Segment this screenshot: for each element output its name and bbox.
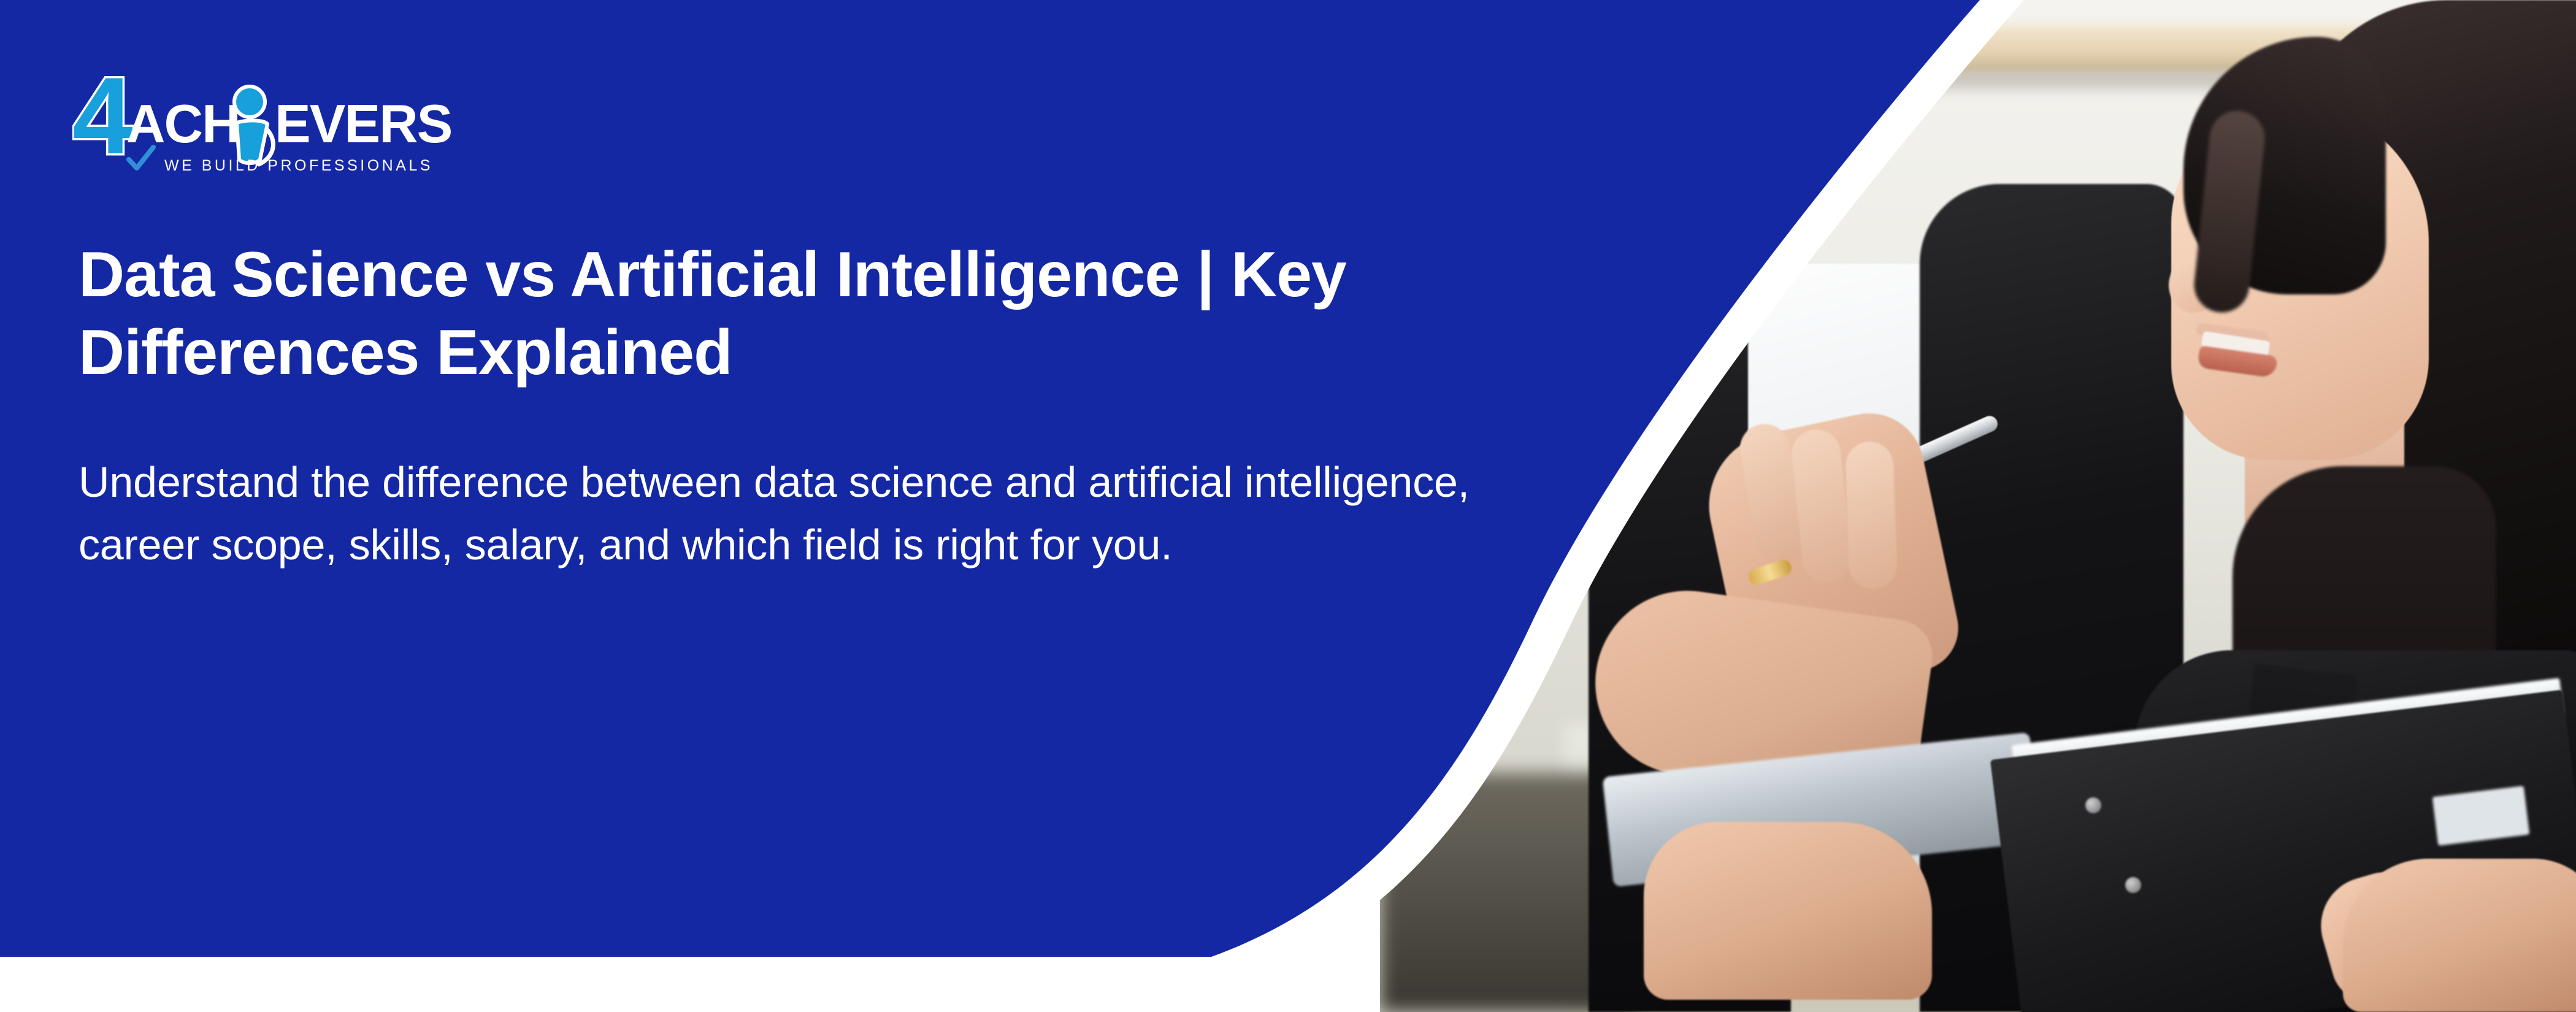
logo-tagline: WE BUILD PROFESSIONALS bbox=[164, 157, 433, 174]
clipboard-rivet bbox=[2125, 877, 2141, 893]
svg-text:4: 4 bbox=[72, 61, 133, 175]
hero-content: 4 ACH EVERS WE BUILD PROFESSIONALS bbox=[0, 0, 1595, 1012]
clipboard-rivet bbox=[2085, 797, 2101, 813]
page-title: Data Science vs Artificial Intelligence … bbox=[79, 236, 1538, 392]
hero-banner: 4 ACH EVERS WE BUILD PROFESSIONALS bbox=[0, 0, 2576, 1012]
logo-numeral-4: 4 bbox=[72, 61, 133, 175]
logo-text-evers: EVERS bbox=[275, 93, 451, 154]
woman-right-lower-hand bbox=[2343, 859, 2576, 1012]
page-subtitle: Understand the difference between data s… bbox=[79, 451, 1508, 576]
logo-text-ach: ACH bbox=[126, 93, 240, 154]
brand-logo[interactable]: 4 ACH EVERS WE BUILD PROFESSIONALS bbox=[72, 61, 465, 175]
logo-person-i-icon bbox=[234, 86, 273, 164]
